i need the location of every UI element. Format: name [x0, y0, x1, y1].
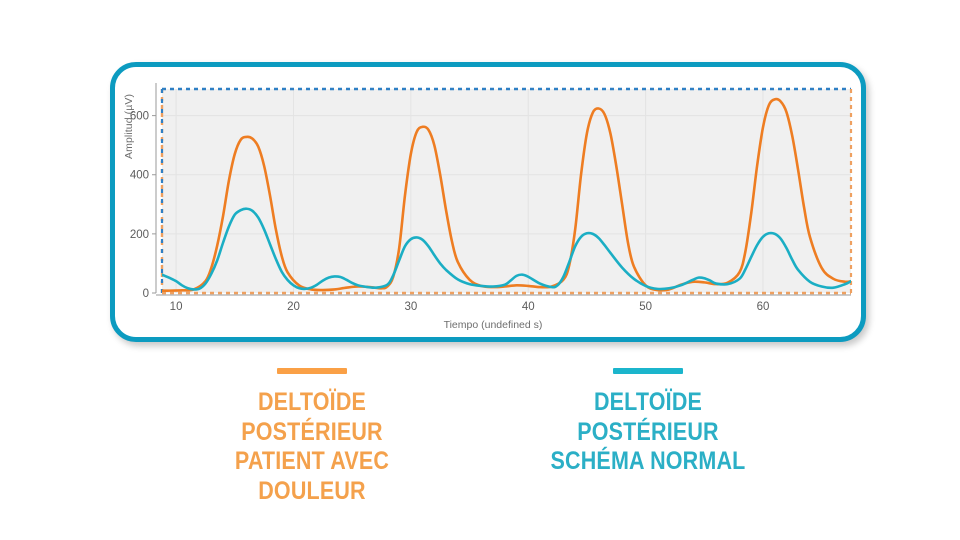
y-tick-label: 200	[130, 229, 149, 241]
y-tick-label: 400	[130, 170, 149, 182]
x-tick-label: 50	[639, 301, 652, 313]
legend-item-patient-avec-douleur: DELTOÏDE POSTÉRIEUR PATIENT AVEC DOULEUR	[167, 368, 457, 506]
chart-legend: DELTOÏDE POSTÉRIEUR PATIENT AVEC DOULEUR…	[0, 368, 960, 506]
x-tick-label: 60	[757, 301, 770, 313]
y-axis-title: Amplitud (µV)	[123, 143, 135, 159]
legend-label-schema-normal: DELTOÏDE POSTÉRIEUR SCHÉMA NORMAL	[523, 388, 772, 477]
x-tick-label: 40	[522, 301, 535, 313]
emg-line-chart: 0200400600102030405060	[115, 67, 871, 347]
y-tick-label: 0	[143, 288, 149, 300]
x-tick-label: 10	[170, 301, 183, 313]
legend-item-schema-normal: DELTOÏDE POSTÉRIEUR SCHÉMA NORMAL	[503, 368, 793, 477]
legend-swatch-orange	[277, 368, 347, 374]
x-tick-label: 20	[287, 301, 300, 313]
x-tick-label: 30	[404, 301, 417, 313]
x-axis-title: Tiempo (undefined s)	[115, 319, 871, 331]
plot-area: 0200400600102030405060 Amplitud (µV) Tie…	[115, 67, 871, 347]
chart-frame: 0200400600102030405060 Amplitud (µV) Tie…	[110, 62, 866, 342]
legend-label-patient-avec-douleur: DELTOÏDE POSTÉRIEUR PATIENT AVEC DOULEUR	[187, 388, 436, 506]
legend-swatch-teal	[613, 368, 683, 374]
